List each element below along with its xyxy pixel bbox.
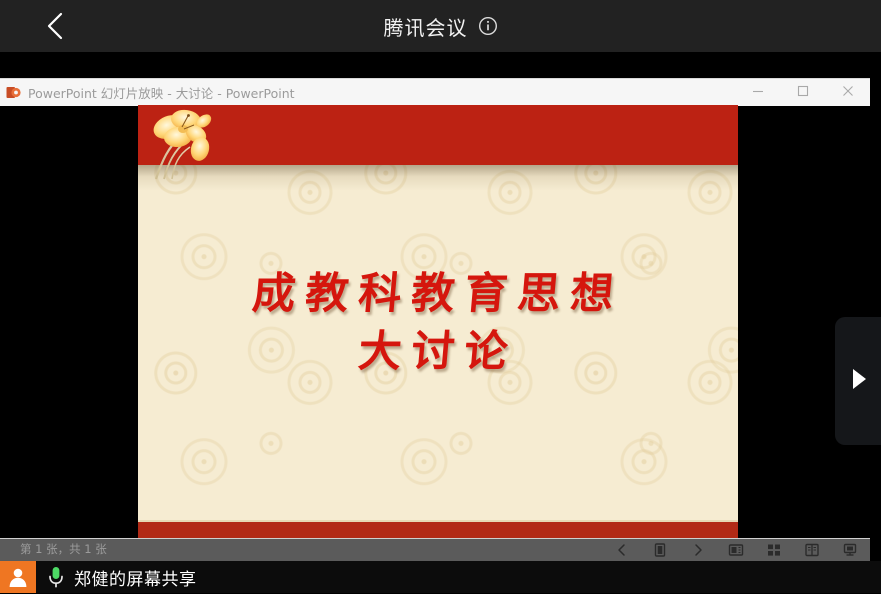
slideshow-toolbar: [612, 539, 860, 561]
slide-canvas[interactable]: 成教科教育思想 大讨论: [138, 105, 738, 539]
slide-title-line-2: 大讨论: [138, 323, 738, 381]
window-title: PowerPoint 幻灯片放映 - 大讨论 - PowerPoint: [28, 83, 295, 102]
all-slides-grid-icon[interactable]: [764, 540, 784, 560]
shared-screen-region: PowerPoint 幻灯片放映 - 大讨论 - PowerPoint: [0, 52, 881, 561]
slide-title: 成教科教育思想 大讨论: [138, 265, 738, 381]
maximize-icon: [797, 84, 809, 102]
slide-counter: 第 1 张，共 1 张: [20, 541, 107, 557]
play-triangle-icon: [847, 366, 869, 397]
display-settings-icon[interactable]: [840, 540, 860, 560]
close-button[interactable]: [825, 79, 870, 106]
minimize-icon: [752, 84, 764, 102]
slide-bottom-band: [138, 520, 738, 539]
presenter-view-icon[interactable]: [726, 540, 746, 560]
chevron-left-icon: [44, 10, 68, 42]
header-center-group: 腾讯会议: [0, 0, 881, 52]
info-circle-icon[interactable]: [478, 16, 498, 36]
maximize-button[interactable]: [780, 79, 825, 106]
page-title: 腾讯会议: [384, 12, 468, 41]
meeting-header: 腾讯会议: [0, 0, 881, 52]
powerpoint-window: PowerPoint 幻灯片放映 - 大讨论 - PowerPoint: [0, 78, 870, 561]
expand-side-panel-button[interactable]: [835, 317, 881, 445]
microphone-icon[interactable]: [46, 565, 66, 589]
back-button[interactable]: [38, 8, 74, 44]
notes-book-icon[interactable]: [802, 540, 822, 560]
powerpoint-titlebar[interactable]: PowerPoint 幻灯片放映 - 大讨论 - PowerPoint: [0, 78, 870, 106]
powerpoint-icon: [6, 85, 21, 100]
pen-tools-icon[interactable]: [650, 540, 670, 560]
powerpoint-statusbar: 第 1 张，共 1 张: [0, 538, 870, 561]
screen-share-bar: 郑健的屏幕共享: [0, 561, 881, 593]
next-slide-icon[interactable]: [688, 540, 708, 560]
user-avatar-icon: [0, 561, 36, 593]
minimize-button[interactable]: [735, 79, 780, 106]
close-icon: [842, 84, 854, 102]
slide-title-line-1: 成教科教育思想: [138, 265, 738, 323]
share-status-label: 郑健的屏幕共享: [74, 565, 197, 590]
flower-decoration-icon: [138, 105, 248, 183]
previous-slide-icon[interactable]: [612, 540, 632, 560]
